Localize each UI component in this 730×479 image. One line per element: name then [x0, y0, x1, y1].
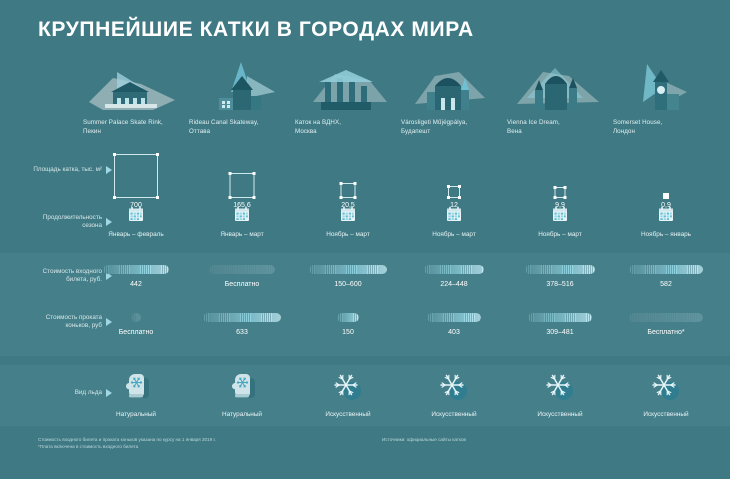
ticket-price-cell: 150–600: [295, 265, 401, 288]
ice-type-cell: Искусственный: [613, 372, 719, 418]
area-square-icon: [341, 183, 356, 198]
season-value: Ноябрь – январь: [613, 231, 719, 238]
ticket-price-bar: [424, 265, 484, 274]
ticket-price-cell: 224–448: [401, 265, 507, 288]
area-indicator: [613, 150, 719, 198]
ticket-price-value: 224–448: [401, 281, 507, 288]
varosligeti-icon: [401, 58, 507, 118]
season-cell: Ноябрь – январь: [613, 206, 719, 238]
footnote-left: Стоимость входного билета и проката конь…: [38, 436, 216, 450]
rental-price-cell: Бесплатно: [83, 313, 189, 336]
rink-city: Москва: [295, 128, 401, 137]
area-indicator: [507, 150, 613, 198]
ice-type-value: Натуральный: [83, 411, 189, 418]
ticket-price-value: 442: [83, 281, 189, 288]
season-cell: Ноябрь – март: [295, 206, 401, 238]
ice-type-cell: Искусственный: [507, 372, 613, 418]
rental-price-value: 309–481: [507, 329, 613, 336]
rink-name-line1: Vienna Ice Dream,: [507, 119, 613, 128]
area-square-icon: [555, 187, 566, 198]
rental-price-value: 403: [401, 329, 507, 336]
calendar-icon: [446, 206, 462, 227]
rental-price-value: Бесплатно: [83, 329, 189, 336]
rideau-canal-icon: [189, 58, 295, 118]
rink-name-line1: Каток на ВДНХ,: [295, 119, 401, 128]
calendar-icon: [128, 206, 144, 227]
season-value: Ноябрь – март: [401, 231, 507, 238]
ticket-price-cell: 442: [83, 265, 189, 288]
area-indicator: [83, 150, 189, 198]
snowflake-icon: [333, 372, 363, 407]
rental-price-value: 150: [295, 329, 401, 336]
rink-name-line1: Summer Palace Skate Rink,: [83, 119, 189, 128]
vienna-ice-dream-icon: [507, 58, 613, 118]
calendar-icon: [552, 206, 568, 227]
rink-city: Вена: [507, 128, 613, 137]
ice-type-value: Искусственный: [507, 411, 613, 418]
area-indicator: [189, 150, 295, 198]
rental-price-cell: 633: [189, 313, 295, 336]
season-value: Январь – февраль: [83, 231, 189, 238]
rink-city: Пекин: [83, 128, 189, 137]
infographic-page: КРУПНЕЙШИЕ КАТКИ В ГОРОДАХ МИРА Площадь …: [0, 0, 730, 479]
ice-type-cell: Натуральный: [83, 372, 189, 418]
rental-price-bar: [427, 313, 481, 322]
ice-type-value: Искусственный: [401, 411, 507, 418]
snowflake-icon: [545, 372, 575, 407]
ticket-price-cell: 378–516: [507, 265, 613, 288]
area-indicator: [295, 150, 401, 198]
season-value: Ноябрь – март: [295, 231, 401, 238]
rink-name: Каток на ВДНХ,Москва: [295, 119, 401, 136]
footnote-right-text: Источники: официальные сайты катков: [382, 436, 466, 443]
snowflake-icon: [651, 372, 681, 407]
footnote-right: Источники: официальные сайты катков: [382, 436, 466, 443]
calendar-icon: [340, 206, 356, 227]
season-cell: Ноябрь – март: [507, 206, 613, 238]
ticket-price-value: Бесплатно: [189, 281, 295, 288]
ticket-price-bar: [629, 265, 703, 274]
area-square-icon: [448, 186, 460, 198]
ticket-price-bar: [103, 265, 169, 274]
area-square-icon: [230, 173, 255, 198]
ticket-price-cell: 582: [613, 265, 719, 288]
rental-price-value: Бесплатно*: [613, 329, 719, 336]
rink-city: Оттава: [189, 128, 295, 137]
vdnh-icon: [295, 58, 401, 118]
ticket-price-cell: Бесплатно: [189, 265, 295, 288]
mitten-snowflake-icon: [227, 372, 257, 407]
calendar-icon: [234, 206, 250, 227]
rink-name-line1: Rideau Canal Skateway,: [189, 119, 295, 128]
rink-name-line1: Somerset House,: [613, 119, 719, 128]
rental-price-cell: 150: [295, 313, 401, 336]
season-cell: Ноябрь – март: [401, 206, 507, 238]
rental-price-bar: [337, 313, 359, 322]
footnote-left-line2: *Плата включена в стоимость входного бил…: [38, 443, 216, 450]
area-indicator: [401, 150, 507, 198]
calendar-icon: [658, 206, 674, 227]
rental-price-value: 633: [189, 329, 295, 336]
rink-name: Vienna Ice Dream,Вена: [507, 119, 613, 136]
page-title: КРУПНЕЙШИЕ КАТКИ В ГОРОДАХ МИРА: [38, 18, 474, 42]
rental-price-cell: Бесплатно*: [613, 313, 719, 336]
rink-name-line1: Városligeti Műjégpálya,: [401, 119, 507, 128]
ticket-price-value: 150–600: [295, 281, 401, 288]
snowflake-icon: [439, 372, 469, 407]
ticket-price-value: 582: [613, 281, 719, 288]
area-square-icon: [114, 154, 158, 198]
rental-price-cell: 403: [401, 313, 507, 336]
rental-price-cell: 309–481: [507, 313, 613, 336]
ice-type-value: Натуральный: [189, 411, 295, 418]
ticket-price-bar: [209, 265, 275, 274]
footnote-left-line1: Стоимость входного билета и проката конь…: [38, 436, 216, 443]
rink-city: Лондон: [613, 128, 719, 137]
rink-name: Rideau Canal Skateway,Оттава: [189, 119, 295, 136]
rental-price-bar: [629, 313, 703, 322]
somerset-house-icon: [613, 58, 719, 118]
season-value: Ноябрь – март: [507, 231, 613, 238]
ice-type-cell: Искусственный: [295, 372, 401, 418]
ticket-price-bar: [525, 265, 595, 274]
rink-name: Summer Palace Skate Rink,Пекин: [83, 119, 189, 136]
rental-price-bar: [131, 313, 141, 322]
ice-type-value: Искусственный: [613, 411, 719, 418]
ticket-price-value: 378–516: [507, 281, 613, 288]
rental-price-bar: [528, 313, 592, 322]
ice-type-cell: Натуральный: [189, 372, 295, 418]
ice-type-value: Искусственный: [295, 411, 401, 418]
rink-name: Somerset House,Лондон: [613, 119, 719, 136]
area-square-icon: [664, 194, 668, 198]
summer-palace-icon: [83, 58, 189, 118]
rental-price-bar: [203, 313, 281, 322]
ice-type-cell: Искусственный: [401, 372, 507, 418]
mitten-snowflake-icon: [121, 372, 151, 407]
rink-city: Будапешт: [401, 128, 507, 137]
season-value: Январь – март: [189, 231, 295, 238]
season-cell: Январь – март: [189, 206, 295, 238]
rink-name: Városligeti Műjégpálya,Будапешт: [401, 119, 507, 136]
ticket-price-bar: [309, 265, 387, 274]
season-cell: Январь – февраль: [83, 206, 189, 238]
